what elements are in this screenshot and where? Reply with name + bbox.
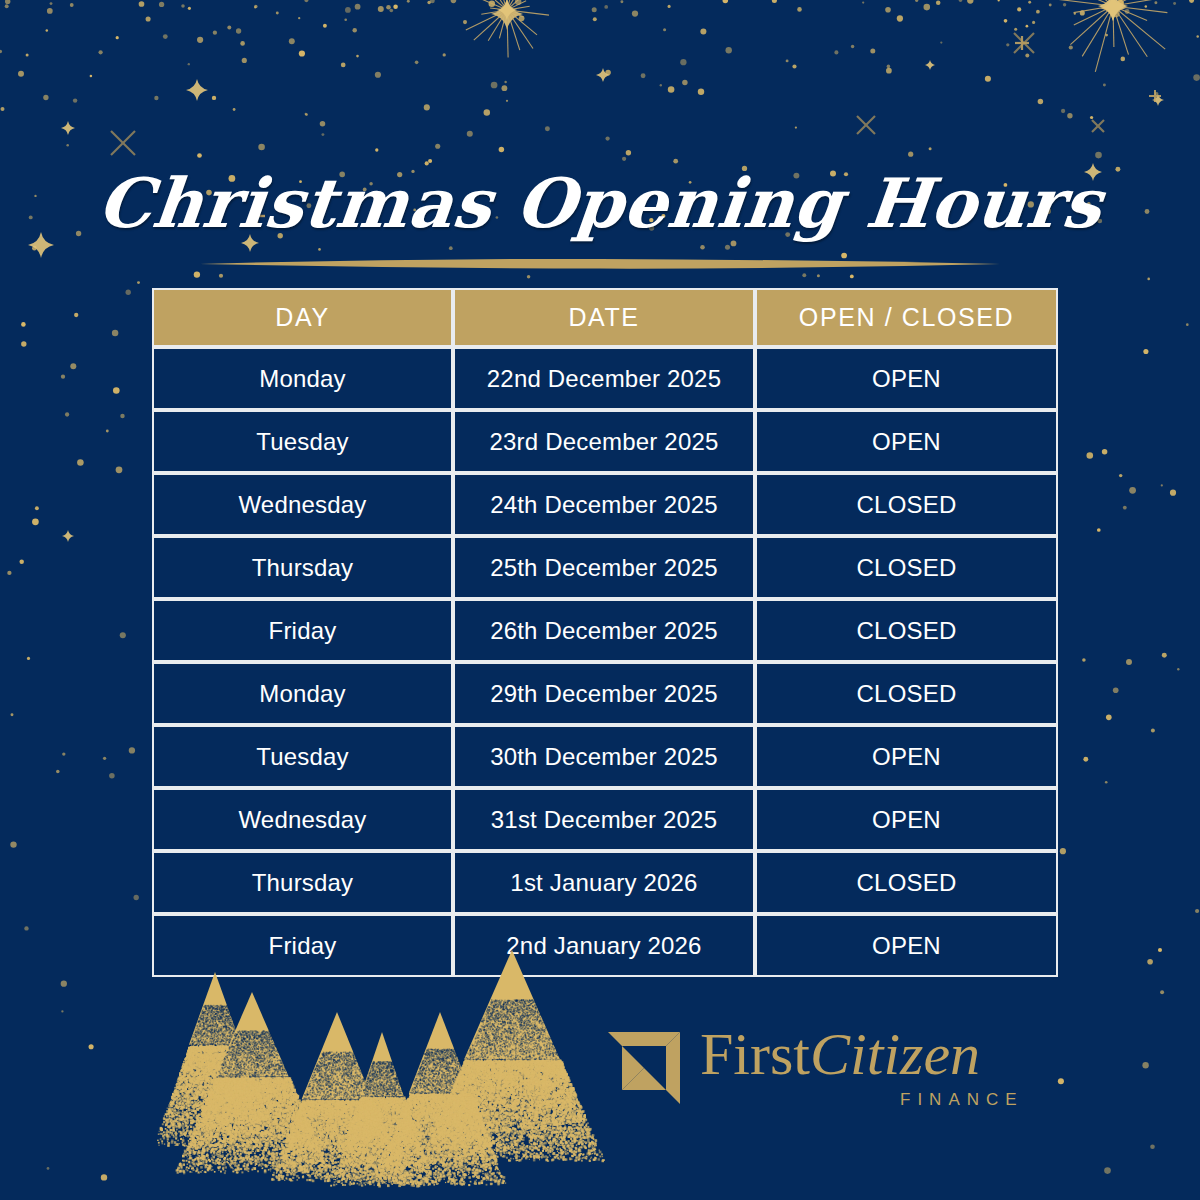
table-row: Friday2nd January 2026OPEN: [152, 914, 1058, 977]
gold-lens-divider-icon: [200, 258, 1000, 270]
table-row: Tuesday23rd December 2025OPEN: [152, 410, 1058, 473]
row-cell-day: Monday: [152, 347, 453, 410]
row-cell-date: 29th December 2025: [453, 662, 755, 725]
row-cell-day: Wednesday: [152, 788, 453, 851]
row-cell-day: Friday: [152, 599, 453, 662]
column-header-day: DAY: [152, 288, 453, 347]
table-row: Wednesday31st December 2025OPEN: [152, 788, 1058, 851]
table-row: Thursday1st January 2026CLOSED: [152, 851, 1058, 914]
row-cell-status: CLOSED: [755, 662, 1058, 725]
christmas-trees-icon: [0, 940, 700, 1200]
row-cell-day: Monday: [152, 662, 453, 725]
row-cell-status: CLOSED: [755, 599, 1058, 662]
logo-word-citizen: Citizen: [810, 1021, 980, 1087]
row-cell-status: OPEN: [755, 347, 1058, 410]
table-header-row: DAY DATE OPEN / CLOSED: [152, 288, 1058, 347]
row-cell-day: Wednesday: [152, 473, 453, 536]
table-row: Friday26th December 2025CLOSED: [152, 599, 1058, 662]
poster-canvas: Christmas Opening Hours DAY DATE OPEN / …: [0, 0, 1200, 1200]
row-cell-status: CLOSED: [755, 536, 1058, 599]
table-row: Thursday25th December 2025CLOSED: [152, 536, 1058, 599]
folded-square-mark-icon: [608, 1032, 680, 1104]
row-cell-date: 31st December 2025: [453, 788, 755, 851]
row-cell-date: 23rd December 2025: [453, 410, 755, 473]
row-cell-status: CLOSED: [755, 473, 1058, 536]
column-header-status: OPEN / CLOSED: [755, 288, 1058, 347]
title-block: Christmas Opening Hours: [0, 168, 1200, 239]
row-cell-status: OPEN: [755, 725, 1058, 788]
row-cell-date: 26th December 2025: [453, 599, 755, 662]
row-cell-status: OPEN: [755, 410, 1058, 473]
logo-word-first: First: [700, 1021, 810, 1087]
column-header-date: DATE: [453, 288, 755, 347]
row-cell-day: Tuesday: [152, 410, 453, 473]
row-cell-date: 30th December 2025: [453, 725, 755, 788]
company-logo: FirstCitizen FINANCE: [608, 1028, 1048, 1128]
page-title: Christmas Opening Hours: [0, 168, 1200, 239]
opening-hours-rows: Monday22nd December 2025OPENTuesday23rd …: [152, 347, 1058, 977]
row-cell-status: CLOSED: [755, 851, 1058, 914]
table-row: Monday22nd December 2025OPEN: [152, 347, 1058, 410]
logo-subtitle: FINANCE: [900, 1090, 1024, 1110]
row-cell-day: Thursday: [152, 536, 453, 599]
row-cell-day: Friday: [152, 914, 453, 977]
table-row: Tuesday30th December 2025OPEN: [152, 725, 1058, 788]
row-cell-day: Tuesday: [152, 725, 453, 788]
row-cell-date: 1st January 2026: [453, 851, 755, 914]
row-cell-status: OPEN: [755, 914, 1058, 977]
row-cell-status: OPEN: [755, 788, 1058, 851]
row-cell-date: 25th December 2025: [453, 536, 755, 599]
table-row: Wednesday24th December 2025CLOSED: [152, 473, 1058, 536]
logo-wordmark: FirstCitizen: [700, 1024, 980, 1084]
row-cell-date: 22nd December 2025: [453, 347, 755, 410]
row-cell-day: Thursday: [152, 851, 453, 914]
row-cell-date: 24th December 2025: [453, 473, 755, 536]
table-row: Monday29th December 2025CLOSED: [152, 662, 1058, 725]
row-cell-date: 2nd January 2026: [453, 914, 755, 977]
opening-hours-table: DAY DATE OPEN / CLOSED Monday22nd Decemb…: [152, 288, 1058, 977]
